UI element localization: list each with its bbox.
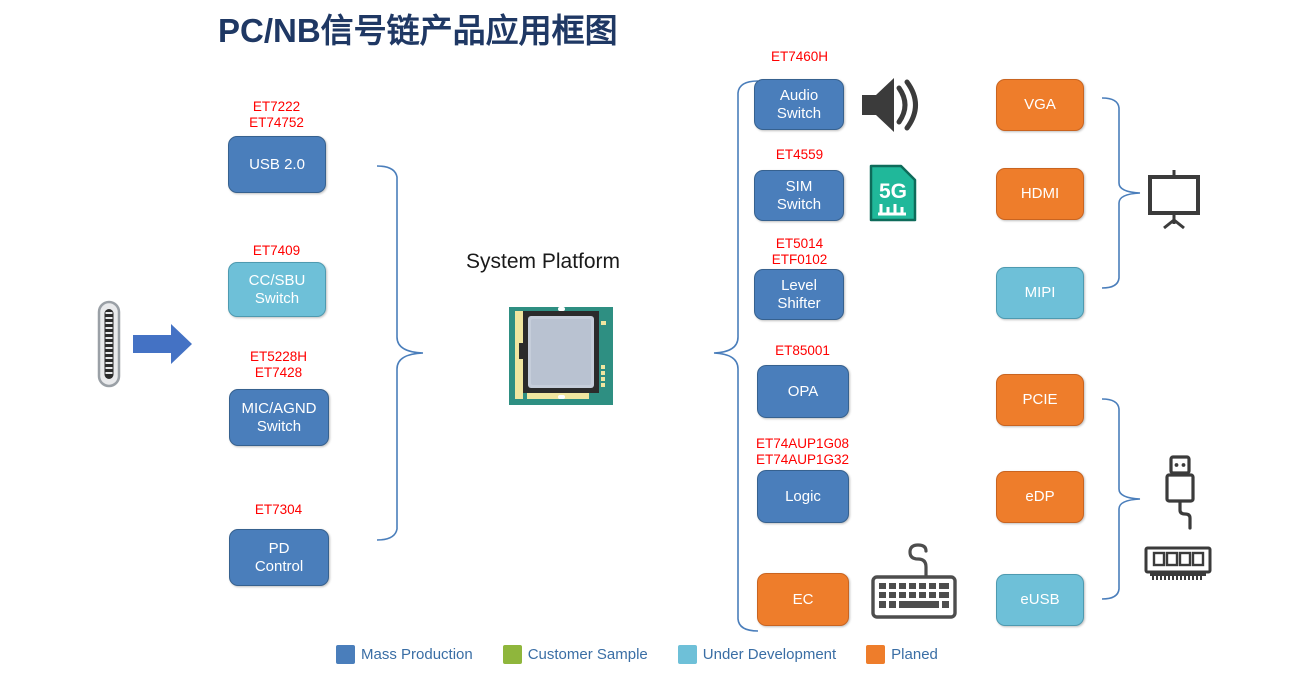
right-block-hdmi[interactable]: HDMI [996,168,1084,220]
legend-swatch-planed [866,645,885,664]
legend-spacer [473,654,503,655]
middle-part-numbers-0: ET7460H [722,49,877,65]
speaker-icon [858,74,930,136]
left-block-cc-sbu-switch[interactable]: CC/SBU Switch [228,262,326,317]
display-brace [1100,95,1146,291]
legend-swatch-customer-sample [503,645,522,664]
middle-block-audio-switch[interactable]: Audio Switch [754,79,844,130]
legend: Mass Production Customer Sample Under De… [336,645,938,664]
middle-block-logic[interactable]: Logic [757,470,849,523]
middle-block-sim-switch[interactable]: SIM Switch [754,170,844,221]
middle-block-level-shifter[interactable]: Level Shifter [754,269,844,320]
left-part-numbers-2: ET5228H ET7428 [201,349,356,380]
legend-spacer [836,654,866,655]
middle-block-opa[interactable]: OPA [757,365,849,418]
right-block-pcie[interactable]: PCIE [996,374,1084,426]
legend-label-planed: Planed [891,646,938,663]
middle-part-numbers-1: ET4559 [722,147,877,163]
right-block-vga[interactable]: VGA [996,79,1084,131]
legend-item-mass-production: Mass Production [336,645,473,664]
left-block-usb-2-0[interactable]: USB 2.0 [228,136,326,193]
legend-item-planed: Planed [866,645,938,664]
io-brace [1100,396,1146,602]
right-arrow-icon [133,322,193,366]
right-block-edp[interactable]: eDP [996,471,1084,523]
projector-screen-icon [1145,168,1203,230]
cpu-chip-icon [509,307,613,405]
system-platform-label: System Platform [466,250,656,274]
sim-card-5g-icon: 5G [869,164,917,222]
right-block-mipi[interactable]: MIPI [996,267,1084,319]
page-title: PC/NB信号链产品应用框图 [218,4,838,52]
legend-item-customer-sample: Customer Sample [503,645,648,664]
keyboard-icon [868,543,960,621]
middle-block-ec[interactable]: EC [757,573,849,626]
legend-spacer [648,654,678,655]
left-part-numbers-0: ET7222 ET74752 [199,99,354,130]
usb-c-connector-icon [96,300,122,388]
middle-part-numbers-3: ET85001 [725,343,880,359]
middle-part-numbers-2: ET5014 ETF0102 [722,236,877,267]
left-block-mic-agnd-switch[interactable]: MIC/AGND Switch [229,389,329,446]
left-brace [375,163,431,543]
right-block-eusb[interactable]: eUSB [996,574,1084,626]
legend-swatch-mass-production [336,645,355,664]
middle-part-numbers-4: ET74AUP1G08 ET74AUP1G32 [710,436,895,467]
legend-label-mass-production: Mass Production [361,646,473,663]
legend-swatch-under-development [678,645,697,664]
usb-plug-icon [1159,455,1203,531]
left-part-numbers-1: ET7409 [199,243,354,259]
legend-label-under-development: Under Development [703,646,836,663]
legend-label-customer-sample: Customer Sample [528,646,648,663]
legend-item-under-development: Under Development [678,645,836,664]
left-block-pd-control[interactable]: PD Control [229,529,329,586]
sim-card-label: 5G [879,180,907,203]
ram-module-icon [1144,546,1212,582]
left-part-numbers-3: ET7304 [201,502,356,518]
